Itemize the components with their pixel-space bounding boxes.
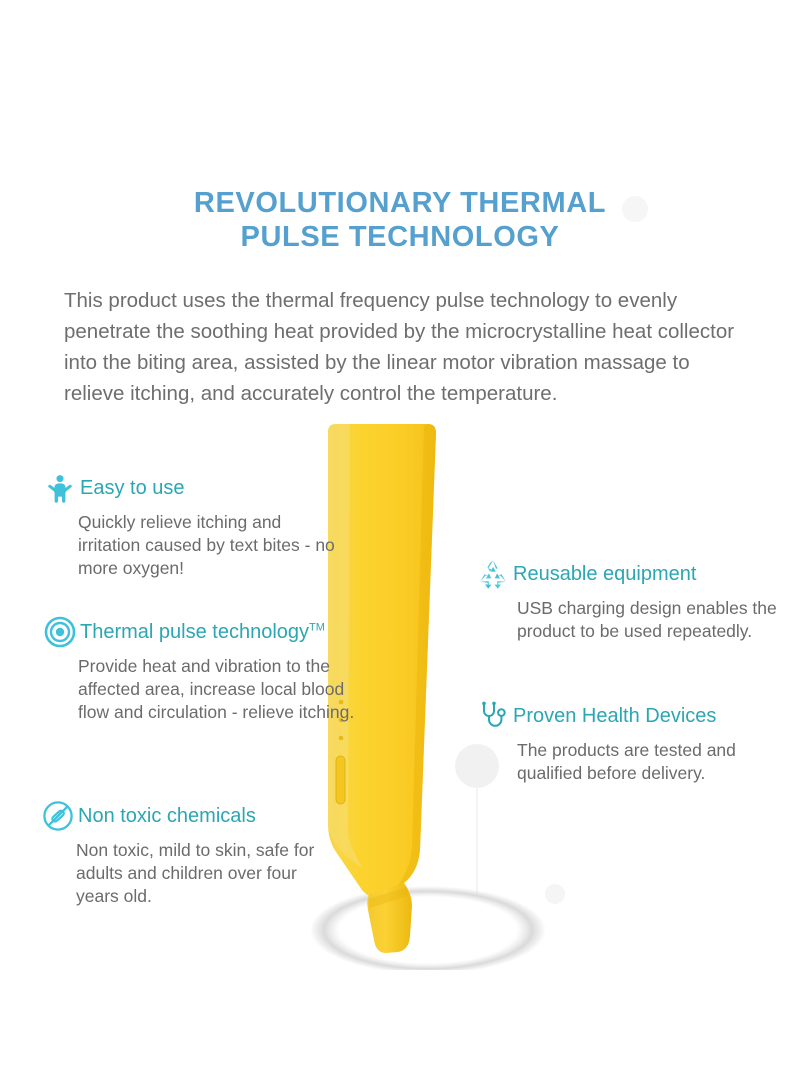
product-infographic-page: REVOLUTIONARY THERMAL PULSE TECHNOLOGY T… (0, 0, 800, 1092)
page-title: REVOLUTIONARY THERMAL PULSE TECHNOLOGY (0, 186, 800, 254)
feature-proven-health-devices-title: Proven Health Devices (513, 705, 716, 727)
person-raised-arms-icon (44, 472, 76, 504)
intro-paragraph: This product uses the thermal frequency … (64, 285, 740, 410)
feature-thermal-pulse-body: Provide heat and vibration to the affect… (44, 655, 374, 723)
feature-proven-health-devices: Proven Health Devices The products are t… (477, 700, 777, 785)
recycle-icon (477, 558, 509, 590)
device-indicator-dot-3 (339, 736, 344, 741)
feature-reusable-equipment-head: Reusable equipment (477, 558, 777, 590)
feature-easy-to-use: Easy to use Quickly relieve itching and … (44, 472, 344, 579)
feature-reusable-equipment-title: Reusable equipment (513, 563, 696, 585)
feature-easy-to-use-title: Easy to use (80, 477, 185, 499)
feature-thermal-pulse-title-text: Thermal pulse technology (80, 621, 309, 643)
feature-non-toxic-head: Non toxic chemicals (42, 800, 342, 832)
feature-reusable-equipment: Reusable equipment USB charging design e… (477, 558, 777, 643)
feature-non-toxic-title: Non toxic chemicals (78, 805, 256, 827)
stethoscope-icon (477, 700, 509, 732)
trademark-symbol: TM (309, 621, 325, 633)
feature-thermal-pulse: Thermal pulse technologyTM Provide heat … (44, 616, 374, 723)
feature-easy-to-use-head: Easy to use (44, 472, 344, 504)
no-chemicals-icon (42, 800, 74, 832)
feature-easy-to-use-body: Quickly relieve itching and irritation c… (44, 511, 344, 579)
device-power-button[interactable] (336, 756, 345, 804)
page-title-line-2: PULSE TECHNOLOGY (0, 220, 800, 254)
feature-proven-health-devices-body: The products are tested and qualified be… (477, 739, 777, 785)
feature-reusable-equipment-body: USB charging design enables the product … (477, 597, 777, 643)
feature-proven-health-devices-head: Proven Health Devices (477, 700, 777, 732)
page-title-line-1: REVOLUTIONARY THERMAL (0, 186, 800, 220)
feature-non-toxic: Non toxic chemicals Non toxic, mild to s… (42, 800, 342, 907)
feature-non-toxic-body: Non toxic, mild to skin, safe for adults… (42, 839, 342, 907)
concentric-circles-icon (44, 616, 76, 648)
feature-thermal-pulse-head: Thermal pulse technologyTM (44, 616, 374, 648)
device-shadow-ring (310, 886, 546, 970)
feature-thermal-pulse-title: Thermal pulse technologyTM (80, 621, 325, 643)
